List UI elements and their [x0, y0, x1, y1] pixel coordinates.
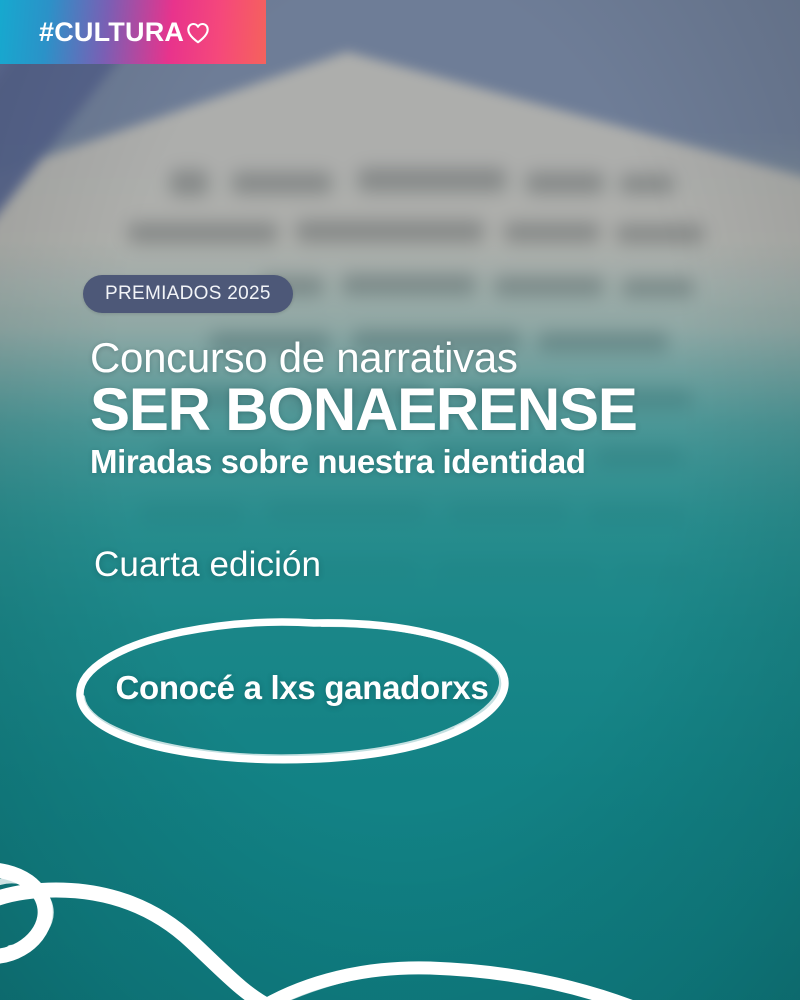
title-subtitle: Miradas sobre nuestra identidad — [90, 444, 780, 480]
title-block: Concurso de narrativas SER BONAERENSE Mi… — [90, 336, 780, 480]
heart-outline-icon — [186, 22, 210, 44]
hand-drawn-loop-icon — [0, 780, 800, 1000]
status-badge: PREMIADOS 2025 — [83, 275, 293, 313]
poster-canvas: #CULTURA PREMIADOS 2025 Concurso de narr… — [0, 0, 800, 1000]
cta-label: Conocé a lxs ganadorxs — [72, 669, 532, 707]
title-kicker: Concurso de narrativas — [90, 336, 780, 381]
cultura-banner-label: #CULTURA — [39, 19, 210, 46]
poster-content: PREMIADOS 2025 Concurso de narrativas SE… — [0, 0, 800, 1000]
edition-label: Cuarta edición — [94, 545, 321, 585]
status-badge-label: PREMIADOS 2025 — [105, 283, 271, 305]
cta-group[interactable]: Conocé a lxs ganadorxs — [72, 612, 532, 767]
page-title: SER BONAERENSE — [90, 379, 780, 440]
cultura-banner: #CULTURA — [0, 0, 266, 64]
cultura-hashtag-text: #CULTURA — [39, 17, 184, 47]
